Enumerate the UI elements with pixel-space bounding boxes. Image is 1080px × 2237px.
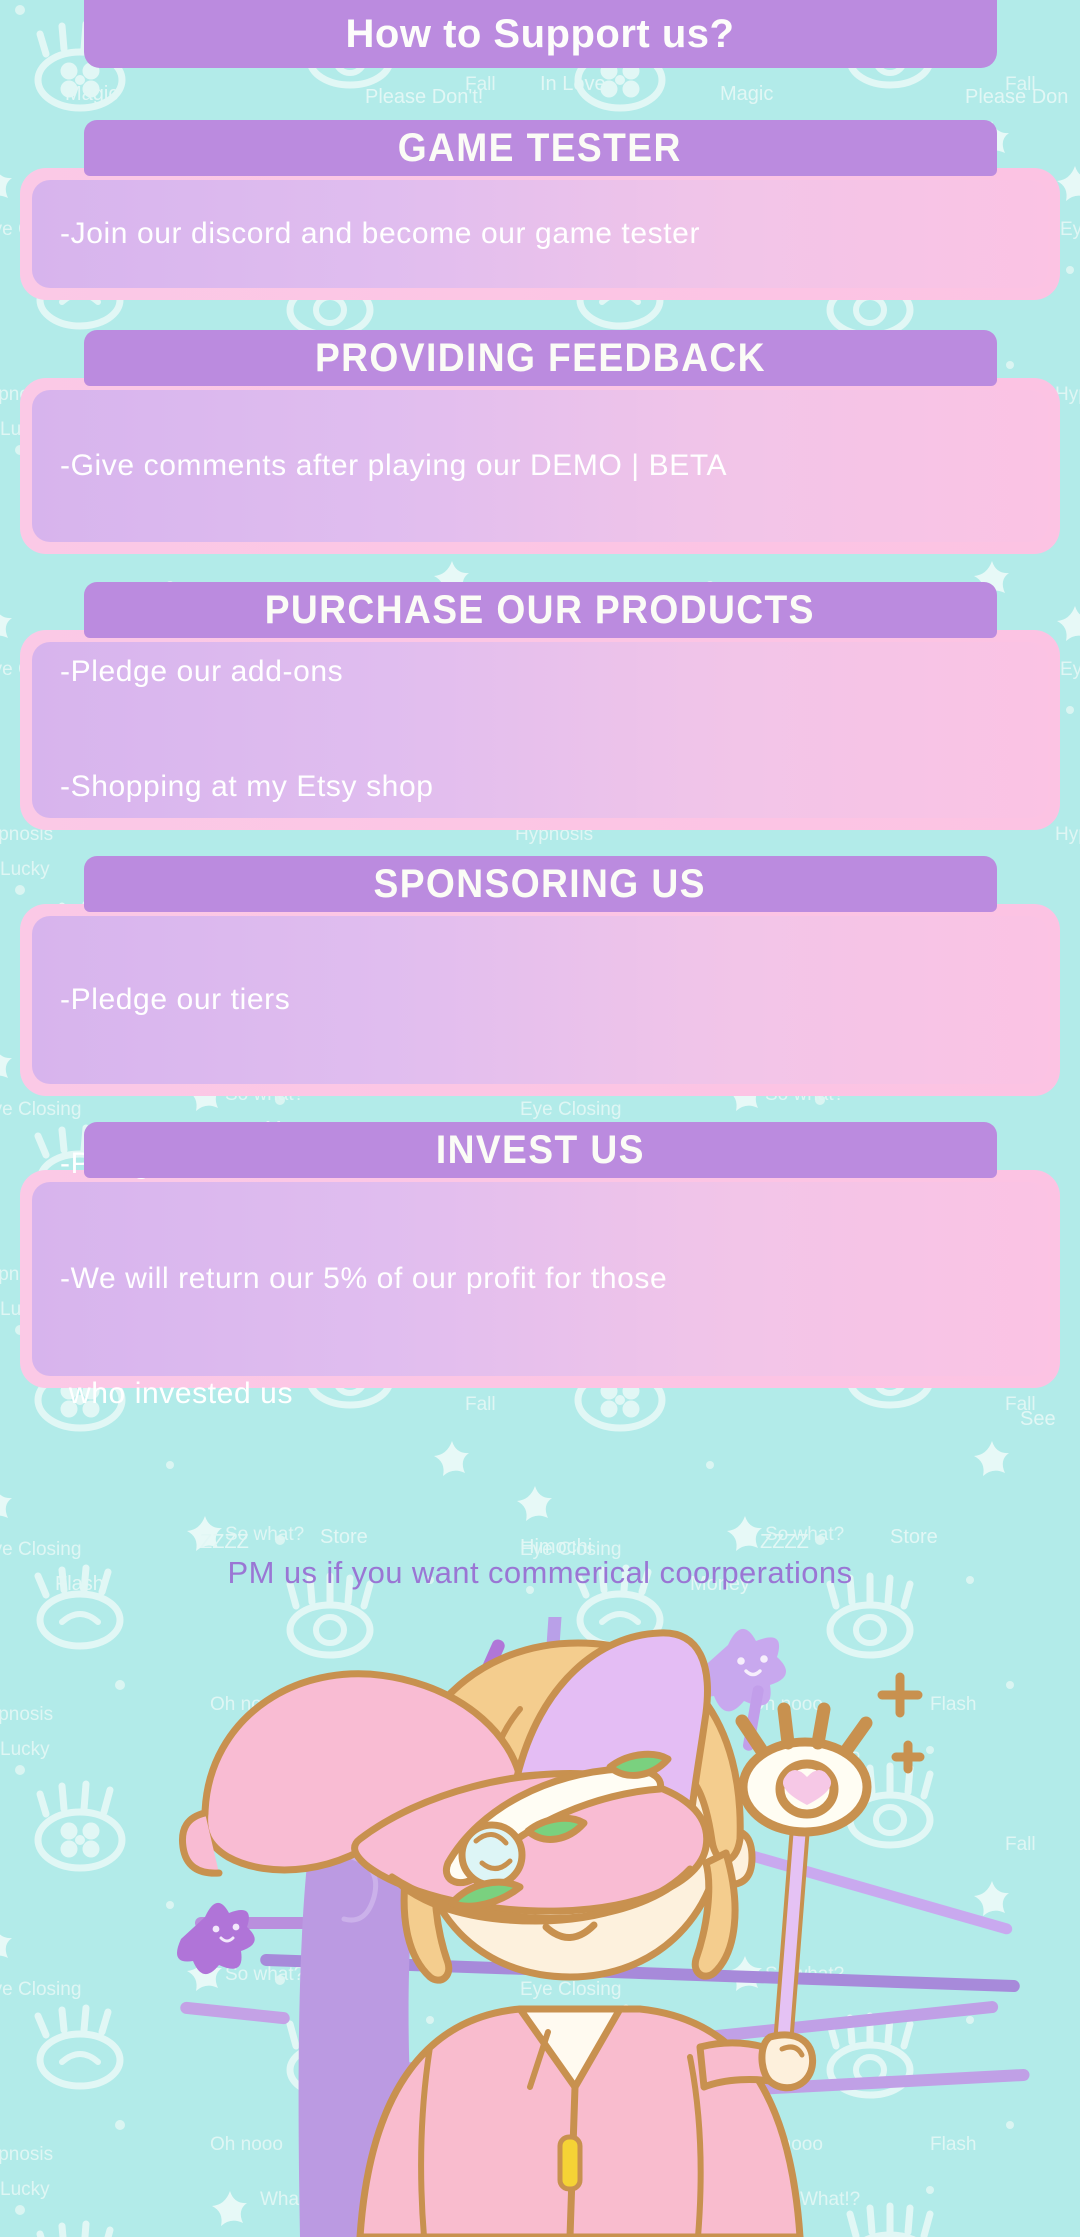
bullet-line: -We will return our 5% of our profit for… [60,1260,667,1298]
section-purchase-our-products: PURCHASE OUR PRODUCTS -Pledge our add-on… [0,582,1080,830]
svg-text:ZZZZ: ZZZZ [200,1531,249,1553]
section-heading-purchase-our-products: PURCHASE OUR PRODUCTS [265,590,815,630]
section-body-inner-providing-feedback: -Give comments after playing our DEMO | … [32,390,1048,542]
section-heading-bar-game-tester: GAME TESTER [84,120,997,176]
section-lines-providing-feedback: -Give comments after playing our DEMO | … [60,370,727,562]
section-heading-invest-us: INVEST US [436,1130,645,1170]
section-heading-sponsoring-us: SPONSORING US [374,864,706,904]
section-game-tester: GAME TESTER -Join our discord and become… [0,120,1080,300]
section-heading-bar-purchase-our-products: PURCHASE OUR PRODUCTS [84,582,997,638]
witch-girl-illustration [0,1617,1080,2237]
bullet-line: who invested us [60,1375,667,1413]
pm-contact-note: PM us if you want commerical coorperatio… [0,1555,1080,1591]
section-body-inner-sponsoring-us: -Pledge our tiers [32,916,1048,1084]
section-heading-bar-providing-feedback: PROVIDING FEEDBACK [84,330,997,386]
svg-text:Store: Store [890,1526,938,1548]
section-heading-bar-sponsoring-us: SPONSORING US [84,856,997,912]
bullet-line: -Pledge our add-ons [60,653,434,691]
section-heading-game-tester: GAME TESTER [398,128,682,168]
bullet-line: -Give comments after playing our DEMO | … [60,447,727,485]
section-body-inner-game-tester: -Join our discord and become our game te… [32,180,1048,288]
section-heading-bar-invest-us: INVEST US [84,1122,997,1178]
section-sponsoring-us: SPONSORING US -Pledge our tiers [0,856,1080,1096]
section-body-providing-feedback: -Give comments after playing our DEMO | … [20,378,1060,554]
section-providing-feedback: PROVIDING FEEDBACK -Give comments after … [0,330,1080,554]
poster-canvas: Lucky What!? Fall Eye Closing So what? O… [0,0,1080,2237]
section-invest-us: INVEST US -Pledge our tiers -We will ret… [0,1122,1080,1388]
svg-text:Store: Store [320,1526,368,1548]
section-body-inner-purchase-our-products: -Pledge our add-ons -Shopping at my Etsy… [32,642,1048,818]
bullet-line: -Pledge our tiers [60,981,290,1019]
page-title: How to Support us? [346,14,735,54]
section-heading-providing-feedback: PROVIDING FEEDBACK [315,338,766,378]
section-body-game-tester: -Join our discord and become our game te… [20,168,1060,300]
bullet-line: -Shopping at my Etsy shop [60,768,434,806]
content-stack: How to Support us? GAME TESTER -Join our… [0,0,1080,1388]
section-body-invest-us: -Pledge our tiers -We will return our 5%… [20,1170,1060,1388]
svg-text:See: See [1020,1408,1056,1430]
page-title-bar: How to Support us? [84,0,997,68]
section-body-inner-invest-us: -Pledge our tiers -We will return our 5%… [32,1182,1048,1376]
bullet-line: -Join our discord and become our game te… [60,215,700,253]
svg-text:ZZZZ: ZZZZ [760,1531,809,1553]
section-body-purchase-our-products: -Pledge our add-ons -Shopping at my Etsy… [20,630,1060,830]
